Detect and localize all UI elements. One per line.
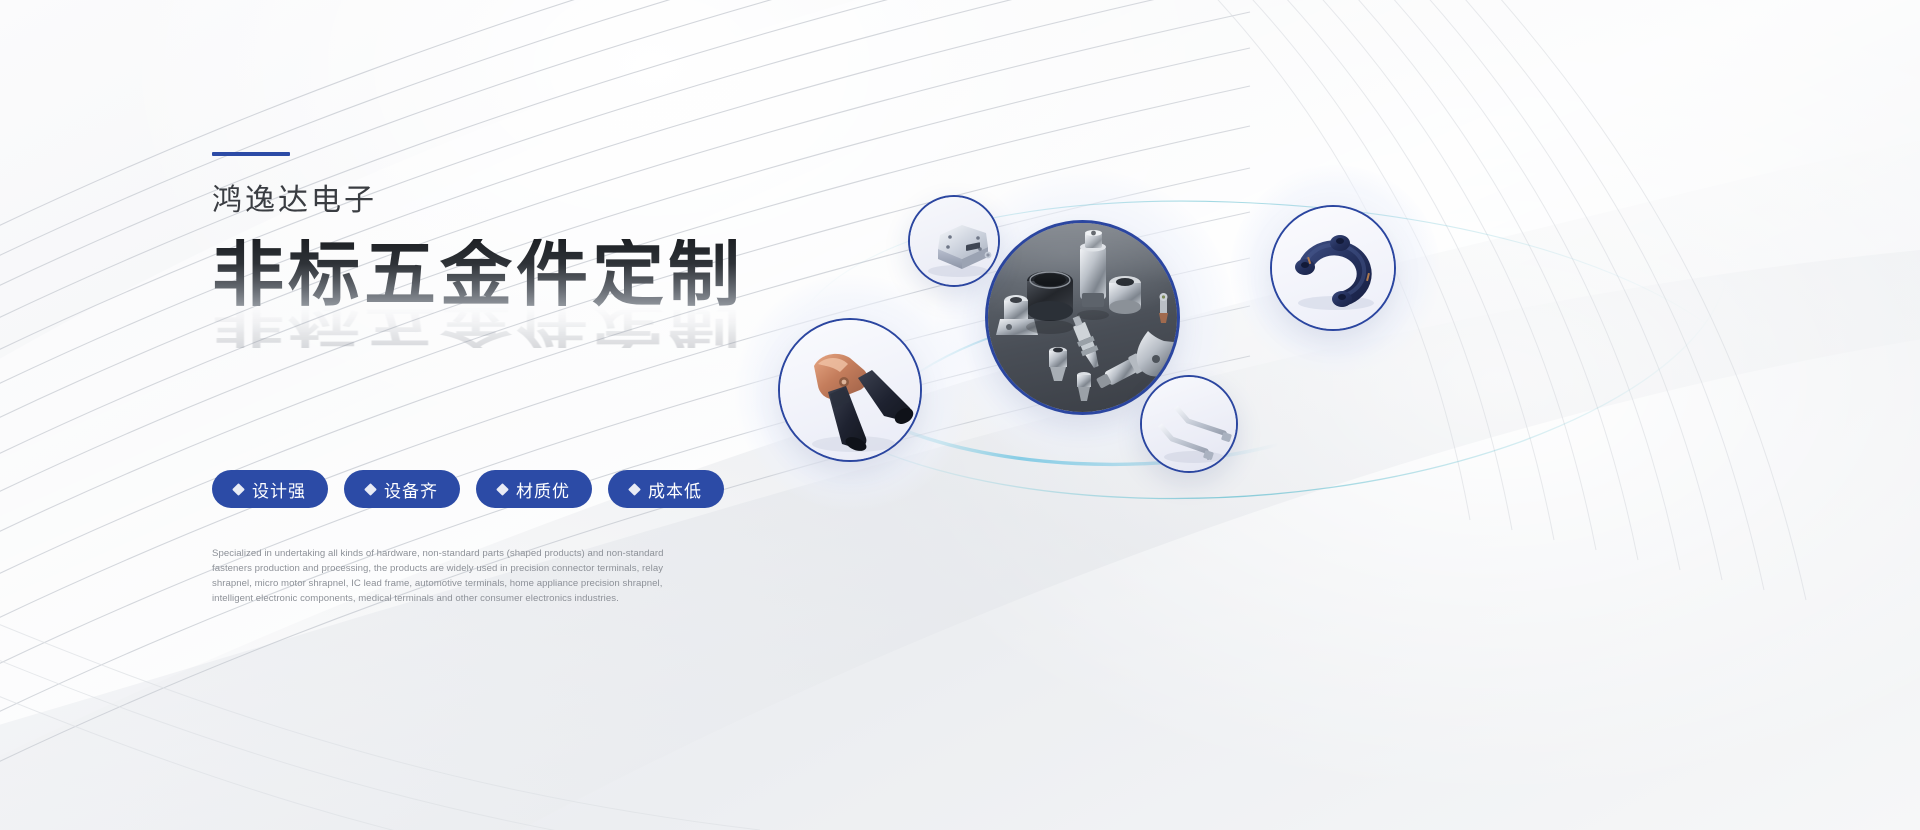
copper-battery-clamp-photo[interactable]	[778, 318, 922, 462]
bent-metal-pins-photo[interactable]	[1140, 375, 1238, 473]
banner-text-block: 鸿逸达电子 非标五金件定制 非标五金件定制	[212, 152, 772, 311]
enclosure-illustration	[910, 197, 1000, 287]
feature-badge-label: 材质优	[516, 477, 570, 502]
feature-badge-label: 成本低	[648, 477, 702, 502]
feature-badge-material[interactable]: 材质优	[476, 470, 592, 508]
diamond-icon	[628, 483, 641, 496]
brand-name: 鸿逸达电子	[212, 184, 772, 217]
feature-badge-label: 设备齐	[384, 477, 438, 502]
feature-badge-cost[interactable]: 成本低	[608, 470, 724, 508]
diamond-icon	[364, 483, 377, 496]
feature-badge-equipment[interactable]: 设备齐	[344, 470, 460, 508]
banner-stage: 鸿逸达电子 非标五金件定制 非标五金件定制 设计强 设备齐 材质优 成本低 Sp…	[0, 0, 1920, 830]
diamond-icon	[232, 483, 245, 496]
diamond-icon	[496, 483, 509, 496]
company-description: Specialized in undertaking all kinds of …	[212, 546, 682, 607]
accent-bar	[212, 152, 290, 156]
product-showcase	[760, 120, 1760, 570]
feature-badge-design[interactable]: 设计强	[212, 470, 328, 508]
bent-pins-illustration	[1142, 377, 1238, 473]
blue-retaining-ring-photo[interactable]	[1270, 205, 1396, 331]
feature-badge-list: 设计强 设备齐 材质优 成本低	[212, 470, 724, 508]
battery-clamp-illustration	[780, 320, 922, 462]
retaining-ring-illustration	[1272, 207, 1396, 331]
page-title: 非标五金件定制	[212, 239, 772, 311]
metal-enclosure-photo[interactable]	[908, 195, 1000, 287]
feature-badge-label: 设计强	[252, 477, 306, 502]
